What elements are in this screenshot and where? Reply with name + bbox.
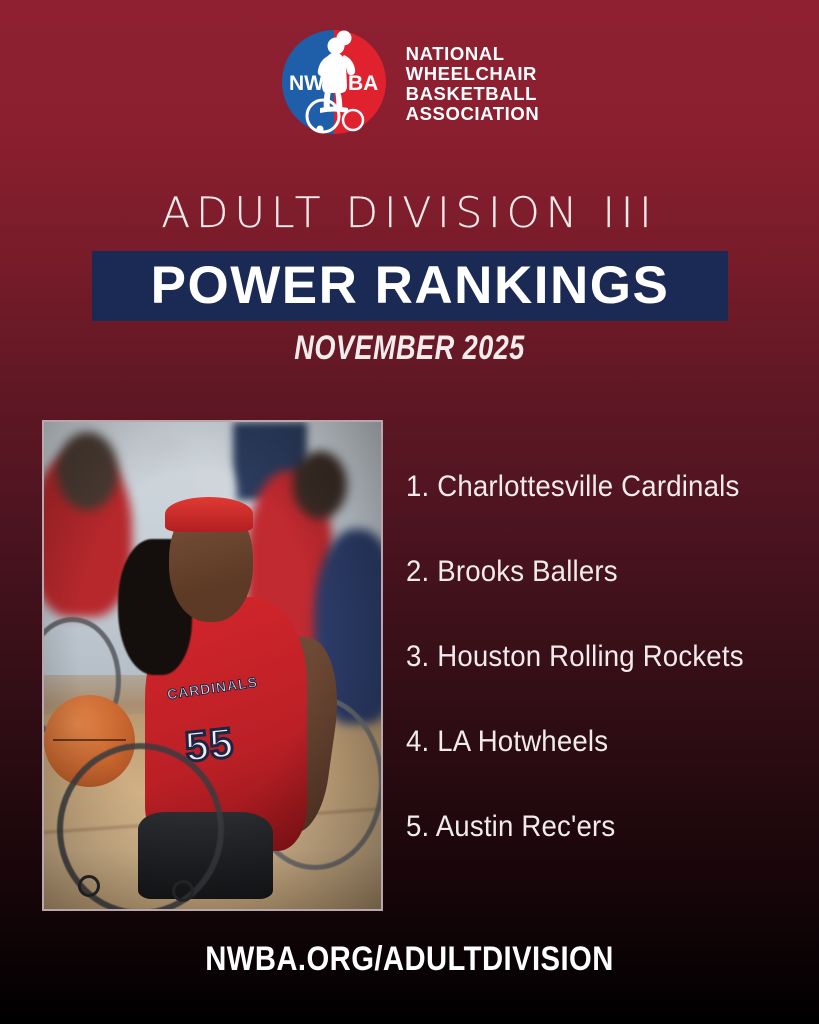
footer-url-text: NWBA.ORG/ADULTDIVISION xyxy=(205,940,614,978)
footer-url[interactable]: NWBA.ORG/ADULTDIVISION xyxy=(0,940,819,978)
svg-text:BA: BA xyxy=(348,72,378,95)
list-item: 2. Brooks Ballers xyxy=(406,555,756,640)
power-rankings-list: 1. Charlottesville Cardinals 2. Brooks B… xyxy=(406,470,786,895)
logo-line-3: BASKETBALL xyxy=(406,84,540,103)
nwba-logo-block: NW BA NATIONAL WHEELCHAIR BASKETBALL ASS… xyxy=(0,28,819,136)
photo-content: CARDINALS 55 xyxy=(44,422,381,909)
list-item: 1. Charlottesville Cardinals xyxy=(406,470,756,555)
logo-line-4: ASSOCIATION xyxy=(406,104,540,123)
list-item: 4. LA Hotwheels xyxy=(406,725,756,810)
list-item: 5. Austin Rec'ers xyxy=(406,810,756,895)
edition-date: NOVEMBER 2025 xyxy=(82,328,737,368)
nwba-wordmark: NATIONAL WHEELCHAIR BASKETBALL ASSOCIATI… xyxy=(406,42,540,123)
logo-line-2: WHEELCHAIR xyxy=(406,64,540,83)
division-kicker: ADULT DIVISION III xyxy=(0,190,819,236)
nwba-logo-icon: NW BA xyxy=(280,28,388,136)
page-title: POWER RANKINGS xyxy=(151,258,670,314)
power-rankings-banner: POWER RANKINGS xyxy=(92,251,728,321)
svg-text:NW: NW xyxy=(289,72,324,95)
list-item: 3. Houston Rolling Rockets xyxy=(406,640,756,725)
feature-photo: CARDINALS 55 xyxy=(42,420,383,911)
poster-canvas: NW BA NATIONAL WHEELCHAIR BASKETBALL ASS… xyxy=(0,0,819,1024)
logo-line-1: NATIONAL xyxy=(406,44,540,63)
